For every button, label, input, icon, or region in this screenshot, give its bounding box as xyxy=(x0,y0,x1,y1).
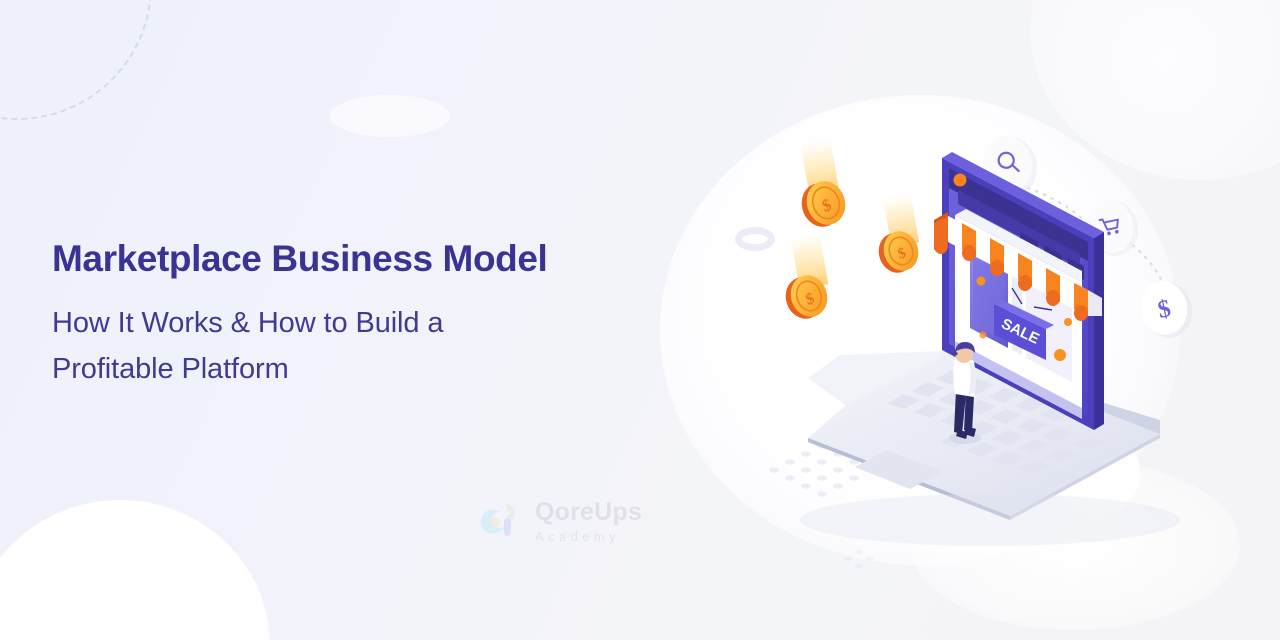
isometric-dot-grid-small xyxy=(836,548,882,574)
logo-name: QoreUps xyxy=(535,500,642,525)
coin-1: $ xyxy=(796,138,851,232)
qoreups-academy-watermark-logo: QoreUps Academy xyxy=(478,498,642,544)
marketplace-hero-banner: Marketplace Business Model How It Works … xyxy=(0,0,1280,640)
subtitle-line-2: Profitable Platform xyxy=(52,347,672,393)
browser-window-button xyxy=(954,174,967,187)
dashed-circle-decoration xyxy=(0,0,152,120)
laptop-ground-shadow xyxy=(800,494,1180,546)
pale-oval-decoration-1 xyxy=(330,95,450,137)
page-subtitle: How It Works & How to Build a Profitable… xyxy=(52,301,672,393)
subtitle-line-1: How It Works & How to Build a xyxy=(52,301,672,347)
dollar-badge: $ xyxy=(1136,277,1197,343)
page-title: Marketplace Business Model xyxy=(52,238,672,279)
hero-copy: Marketplace Business Model How It Works … xyxy=(52,238,672,393)
coin-3: $ xyxy=(780,233,832,324)
falling-coins-group: $ $ $ xyxy=(780,138,923,324)
marketplace-illustration: $ $ $ $ xyxy=(690,120,1220,520)
blob-bottom-left xyxy=(0,500,270,640)
isometric-scene-svg: $ $ $ $ xyxy=(690,120,1220,520)
coin-2: $ xyxy=(874,193,924,277)
logo-tagline: Academy xyxy=(535,530,642,543)
qoreups-logo-mark-icon xyxy=(478,498,524,544)
logo-wordmark: QoreUps Academy xyxy=(535,500,642,543)
